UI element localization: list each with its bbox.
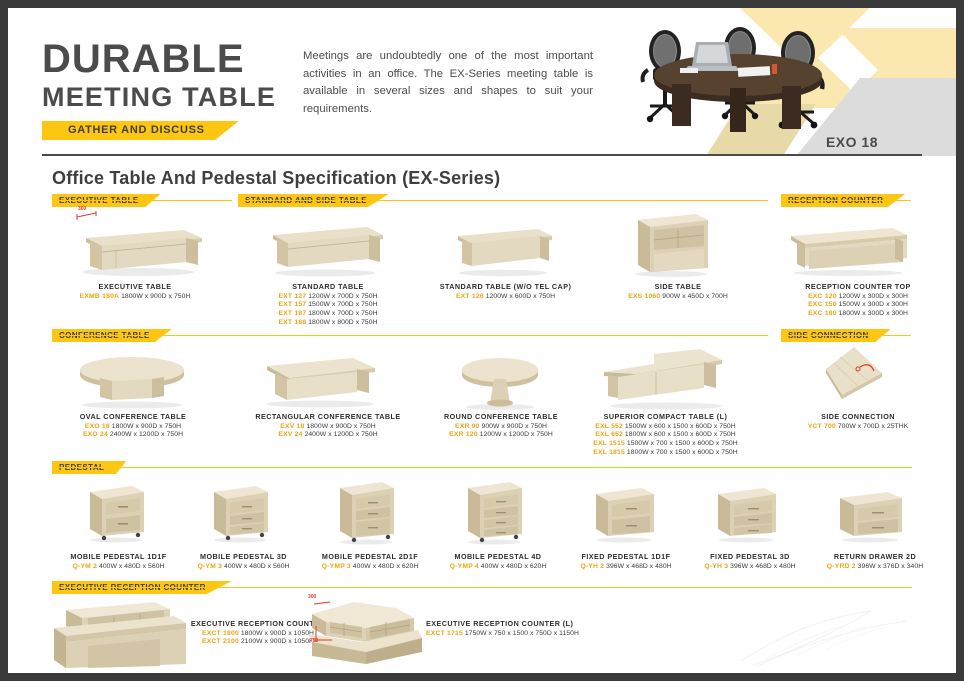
product-dimension: 396W x 468D x 480H <box>730 563 796 570</box>
product-name: SIDE CONNECTION <box>783 412 933 421</box>
product-name: ROUND CONFERENCE TABLE <box>416 412 586 421</box>
product-mobile-pedestal-2d1f: MOBILE PEDESTAL 2D1F Q-YMP 3 400W x 480D… <box>306 552 434 571</box>
product-code: EXT 127 <box>278 293 306 300</box>
product-code: EXCT 2100 <box>202 638 239 645</box>
product-mobile-pedestal-3d: MOBILE PEDESTAL 3D Q-YM 3 400W x 480D x … <box>181 552 306 571</box>
product-variant: EXT 157 1500W x 700D x 750H <box>248 301 408 310</box>
product-dimension: 1800W x 900D x 750H <box>306 423 375 430</box>
product-code: EXL 652 <box>595 431 623 438</box>
product-standard-table: STANDARD TABLE EXT 127 1200W x 700D x 75… <box>248 282 408 328</box>
executive-reception-counter-l-illustration <box>296 596 426 666</box>
product-code: Q-YRD 2 <box>827 563 856 570</box>
executive-table-dimension-value: 300 <box>78 206 86 212</box>
product-variant: EXL 1815 1800W x 700 x 1500 x 600D x 750… <box>578 449 753 458</box>
page-title: Office Table And Pedestal Specification … <box>52 168 500 189</box>
product-variant: EXMB 180A 1800W x 900D x 750H <box>60 293 210 302</box>
product-code: EXS 1060 <box>628 293 660 300</box>
product-code: Q-YM 2 <box>72 563 97 570</box>
product-name: STANDARD TABLE <box>248 282 408 291</box>
product-variant: EXCT 1715 1750W x 750 x 1500 x 750D x 11… <box>426 630 656 639</box>
product-variant: YCT 700 700W x 700D x 25THK <box>783 423 933 432</box>
product-code: Q-YM 3 <box>197 563 222 570</box>
product-side-table: SIDE TABLE EXS 1060 900W x 450D x 700H <box>598 282 758 301</box>
product-dimension: 2400W x 1200D x 750H <box>110 431 183 438</box>
product-fixed-pedestal-1d1f: FIXED PEDESTAL 1D1F Q-YH 2 396W x 468D x… <box>562 552 690 571</box>
product-dimension: 400W x 480D x 560H <box>99 563 165 570</box>
product-variant: Q-YMP 4 400W x 480D x 620H <box>434 563 562 572</box>
product-variant: EXC 180 1800W x 300D x 300H <box>768 310 948 319</box>
product-variant: EXS 1060 900W x 450D x 700H <box>598 293 758 302</box>
reception-l-top-dimension: 300 <box>308 594 316 600</box>
title-line-1: DURABLE <box>42 38 276 80</box>
product-code: EXCT 1800 <box>202 630 239 637</box>
title-line-2: MEETING TABLE <box>42 80 276 114</box>
category-rule <box>52 467 912 468</box>
product-variant: EXT 187 1800W x 700D x 750H <box>248 310 408 319</box>
product-dimension: 1800W x 800D x 750H <box>308 319 377 326</box>
category-rule <box>52 200 232 201</box>
product-dimension: 1800W x 300D x 300H <box>839 310 908 317</box>
product-return-drawer-2d: RETURN DRAWER 2D Q-YRD 2 396W x 376D x 3… <box>810 552 940 571</box>
product-superior-compact-table: SUPERIOR COMPACT TABLE (L) EXL 552 1500W… <box>578 412 753 458</box>
product-code: EXV 24 <box>278 431 302 438</box>
product-name: SIDE TABLE <box>598 282 758 291</box>
product-variant: EXO 18 1800W x 900D x 750H <box>53 423 213 432</box>
product-dimension: 396W x 376D x 340H <box>858 563 924 570</box>
product-name: STANDARD TABLE (W/O TEL CAP) <box>408 282 603 291</box>
product-executive-reception-counter-l: EXECUTIVE RECEPTION COUNTER (L) EXCT 171… <box>426 619 656 638</box>
product-variant: Q-YH 3 396W x 468D x 480H <box>686 563 814 572</box>
executive-table-dimension-mark <box>76 211 98 223</box>
product-dimension: 1500W x 700D x 750H <box>308 301 377 308</box>
product-code: EXR 120 <box>449 431 478 438</box>
product-name: EXECUTIVE TABLE <box>60 282 210 291</box>
product-name: MOBILE PEDESTAL 2D1F <box>306 552 434 561</box>
product-code: EXO 18 <box>85 423 110 430</box>
product-round-conference-table: ROUND CONFERENCE TABLE EXR 90 900W x 900… <box>416 412 586 440</box>
product-dimension: 1200W x 300D x 300H <box>839 293 908 300</box>
standard-table-wo-tel-cap-illustration <box>448 216 558 278</box>
side-connection-illustration <box>820 343 890 405</box>
product-dimension: 396W x 468D x 480H <box>606 563 672 570</box>
rectangular-conference-table-illustration <box>253 346 388 410</box>
product-executive-table: EXECUTIVE TABLE EXMB 180A 1800W x 900D x… <box>60 282 210 301</box>
page-header: DURABLE MEETING TABLE GATHER AND DISCUSS… <box>8 8 956 156</box>
product-dimension: 1500W x 300D x 300H <box>839 301 908 308</box>
product-code: EXV 18 <box>280 423 304 430</box>
return-drawer-2d-illustration <box>830 486 910 544</box>
header-ribbon: GATHER AND DISCUSS <box>42 121 239 140</box>
product-code: EXO 24 <box>83 431 108 438</box>
category-rule <box>238 200 768 201</box>
product-variant: EXL 1515 1500W x 700 x 1500 x 600D x 750… <box>578 440 753 449</box>
product-mobile-pedestal-4d: MOBILE PEDESTAL 4D Q-YMP 4 400W x 480D x… <box>434 552 562 571</box>
product-variant: EXC 150 1500W x 300D x 300H <box>768 301 948 310</box>
product-oval-conference-table: OVAL CONFERENCE TABLE EXO 18 1800W x 900… <box>53 412 213 440</box>
photo-model-label: EXO 18 <box>826 134 878 150</box>
product-variant: EXL 652 1800W x 600 x 1500 x 600D x 750H <box>578 431 753 440</box>
product-variant: Q-YM 2 400W x 480D x 560H <box>56 563 181 572</box>
product-variant: Q-YH 2 396W x 468D x 480H <box>562 563 690 572</box>
category-rule <box>52 335 768 336</box>
fixed-pedestal-1d1f-illustration <box>586 482 662 544</box>
product-code: EXC 180 <box>808 310 837 317</box>
product-name: MOBILE PEDESTAL 1D1F <box>56 552 181 561</box>
product-name: FIXED PEDESTAL 1D1F <box>562 552 690 561</box>
product-name: EXECUTIVE RECEPTION COUNTER (L) <box>426 619 656 628</box>
product-code: EXT 157 <box>278 301 306 308</box>
product-name: FIXED PEDESTAL 3D <box>686 552 814 561</box>
product-name: MOBILE PEDESTAL 3D <box>181 552 306 561</box>
standard-table-illustration <box>263 213 388 278</box>
product-mobile-pedestal-1d1f: MOBILE PEDESTAL 1D1F Q-YM 2 400W x 480D … <box>56 552 181 571</box>
product-side-connection: SIDE CONNECTION YCT 700 700W x 700D x 25… <box>783 412 933 431</box>
product-variant: EXV 24 2400W x 1200D x 750H <box>233 431 423 440</box>
product-code: EXT 187 <box>278 310 306 317</box>
product-code: EXMB 180A <box>80 293 120 300</box>
product-variant: Q-YMP 3 400W x 480D x 620H <box>306 563 434 572</box>
product-dimension: 1800W x 900D x 750H <box>121 293 190 300</box>
product-variant: EXT 127 1200W x 700D x 750H <box>248 293 408 302</box>
product-dimension: 1200W x 700D x 750H <box>308 293 377 300</box>
product-dimension: 1500W x 700 x 1500 x 600D x 750H <box>627 440 738 447</box>
product-dimension: 900W x 450D x 700H <box>662 293 728 300</box>
product-variant: EXT 126 1200W x 600D x 750H <box>408 293 603 302</box>
superior-compact-table-illustration <box>596 344 736 412</box>
product-reception-counter-top: RECEPTION COUNTER TOP EXC 120 1200W x 30… <box>768 282 948 319</box>
mobile-pedestal-4d-illustration <box>458 476 530 546</box>
oval-conference-table-illustration <box>70 348 195 410</box>
product-code: EXR 90 <box>455 423 480 430</box>
product-variant: EXO 24 2400W x 1200D x 750H <box>53 431 213 440</box>
product-fixed-pedestal-3d: FIXED PEDESTAL 3D Q-YH 3 396W x 468D x 4… <box>686 552 814 571</box>
product-variant: EXL 552 1500W x 600 x 1500 x 600D x 750H <box>578 423 753 432</box>
fixed-pedestal-3d-illustration <box>708 482 784 544</box>
product-name: RECTANGULAR CONFERENCE TABLE <box>233 412 423 421</box>
meeting-table-photo <box>620 26 870 141</box>
category-rule <box>781 200 911 201</box>
product-standard-table-wo-tel-cap: STANDARD TABLE (W/O TEL CAP) EXT 126 120… <box>408 282 603 301</box>
product-variant: EXR 90 900W x 900D x 750H <box>416 423 586 432</box>
reception-counter-illustration <box>783 218 913 278</box>
product-code: Q-YMP 4 <box>450 563 479 570</box>
product-dimension: 1500W x 600 x 1500 x 600D x 750H <box>625 423 736 430</box>
category-rule <box>781 335 911 336</box>
product-dimension: 1200W x 1200D x 750H <box>480 431 553 438</box>
product-dimension: 400W x 480D x 560H <box>224 563 290 570</box>
product-code: EXL 1815 <box>593 449 625 456</box>
product-code: Q-YMP 3 <box>322 563 351 570</box>
reception-l-side-dimension: 750 <box>310 638 318 644</box>
product-variant: EXT 188 1800W x 800D x 750H <box>248 319 408 328</box>
product-variant: EXR 120 1200W x 1200D x 750H <box>416 431 586 440</box>
product-rectangular-conference-table: RECTANGULAR CONFERENCE TABLE EXV 18 1800… <box>233 412 423 440</box>
category-rule <box>52 587 912 588</box>
header-description: Meetings are undoubtedly one of the most… <box>303 48 593 118</box>
product-dimension: 2400W x 1200D x 750H <box>304 431 377 438</box>
product-code: EXT 188 <box>278 319 306 326</box>
leaf-watermark <box>736 601 946 671</box>
product-name: RETURN DRAWER 2D <box>810 552 940 561</box>
product-dimension: 1750W x 750 x 1500 x 750D x 1150H <box>465 630 579 637</box>
product-code: Q-YH 2 <box>580 563 604 570</box>
product-code: EXC 150 <box>808 301 837 308</box>
product-name: MOBILE PEDESTAL 4D <box>434 552 562 561</box>
product-variant: EXC 120 1200W x 300D x 300H <box>768 293 948 302</box>
product-dimension: 400W x 480D x 620H <box>481 563 547 570</box>
product-variant: EXV 18 1800W x 900D x 750H <box>233 423 423 432</box>
mobile-pedestal-2d1f-illustration <box>330 476 402 546</box>
mobile-pedestal-3d-illustration <box>204 478 276 544</box>
product-dimension: 1800W x 700 x 1500 x 600D x 750H <box>627 449 738 456</box>
product-dimension: 1800W x 900D x 750H <box>112 423 181 430</box>
header-title-block: DURABLE MEETING TABLE GATHER AND DISCUSS <box>42 38 276 140</box>
product-dimension: 1800W x 700D x 750H <box>308 310 377 317</box>
product-code: EXCT 1715 <box>426 630 463 637</box>
product-code: EXL 1515 <box>593 440 625 447</box>
product-code: EXC 120 <box>808 293 837 300</box>
product-dimension: 900W x 900D x 750H <box>482 423 548 430</box>
header-divider <box>42 154 922 156</box>
product-code: YCT 700 <box>808 423 836 430</box>
side-table-illustration <box>626 206 716 278</box>
product-code: EXL 552 <box>595 423 623 430</box>
catalog-page: DURABLE MEETING TABLE GATHER AND DISCUSS… <box>8 8 956 673</box>
round-conference-table-illustration <box>448 353 553 411</box>
product-variant: Q-YRD 2 396W x 376D x 340H <box>810 563 940 572</box>
product-name: RECEPTION COUNTER TOP <box>768 282 948 291</box>
mobile-pedestal-1d1f-illustration <box>80 478 152 544</box>
product-dimension: 400W x 480D x 620H <box>353 563 419 570</box>
product-code: Q-YH 3 <box>704 563 728 570</box>
product-dimension: 1200W x 600D x 750H <box>486 293 555 300</box>
product-variant: Q-YM 3 400W x 480D x 560H <box>181 563 306 572</box>
header-ribbon-label: GATHER AND DISCUSS <box>68 121 205 140</box>
product-code: EXT 126 <box>456 293 484 300</box>
product-name: OVAL CONFERENCE TABLE <box>53 412 213 421</box>
product-name: SUPERIOR COMPACT TABLE (L) <box>578 412 753 421</box>
product-dimension: 1800W x 600 x 1500 x 600D x 750H <box>625 431 736 438</box>
product-dimension: 700W x 700D x 25THK <box>838 423 908 430</box>
